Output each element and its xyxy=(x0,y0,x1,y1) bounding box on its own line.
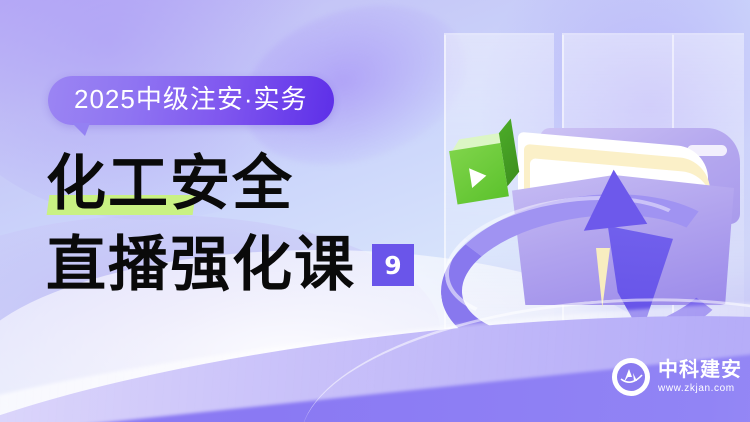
course-title-block: 化工安全 直播强化课 9 xyxy=(46,152,414,298)
play-triangle-icon xyxy=(469,166,488,188)
badge-pill: 2025中级注安·实务 xyxy=(48,76,334,125)
brand-logo[interactable]: 中科建安 www.zkjan.com xyxy=(612,358,742,396)
badge-label: 2025中级注安·实务 xyxy=(74,84,308,114)
brand-name: 中科建安 xyxy=(658,359,742,381)
title-line-1: 化工安全 xyxy=(46,152,414,217)
course-promo-banner: 2025中级注安·实务 化工安全 直播强化课 9 中科建安 www.zkjan.… xyxy=(0,0,750,422)
title-line-2-text: 直播强化课 xyxy=(46,233,356,298)
brand-logo-text: 中科建安 www.zkjan.com xyxy=(658,359,742,395)
course-category-badge: 2025中级注安·实务 xyxy=(48,76,334,125)
play-cube-icon xyxy=(448,132,519,203)
title-line-2: 直播强化课 9 xyxy=(46,233,414,298)
title-line-1-text: 化工安全 xyxy=(46,149,294,219)
zkjan-emblem-icon xyxy=(612,358,650,396)
badge-tail-pointer xyxy=(72,123,90,136)
brand-url: www.zkjan.com xyxy=(658,383,742,395)
episode-number-badge: 9 xyxy=(372,244,414,286)
